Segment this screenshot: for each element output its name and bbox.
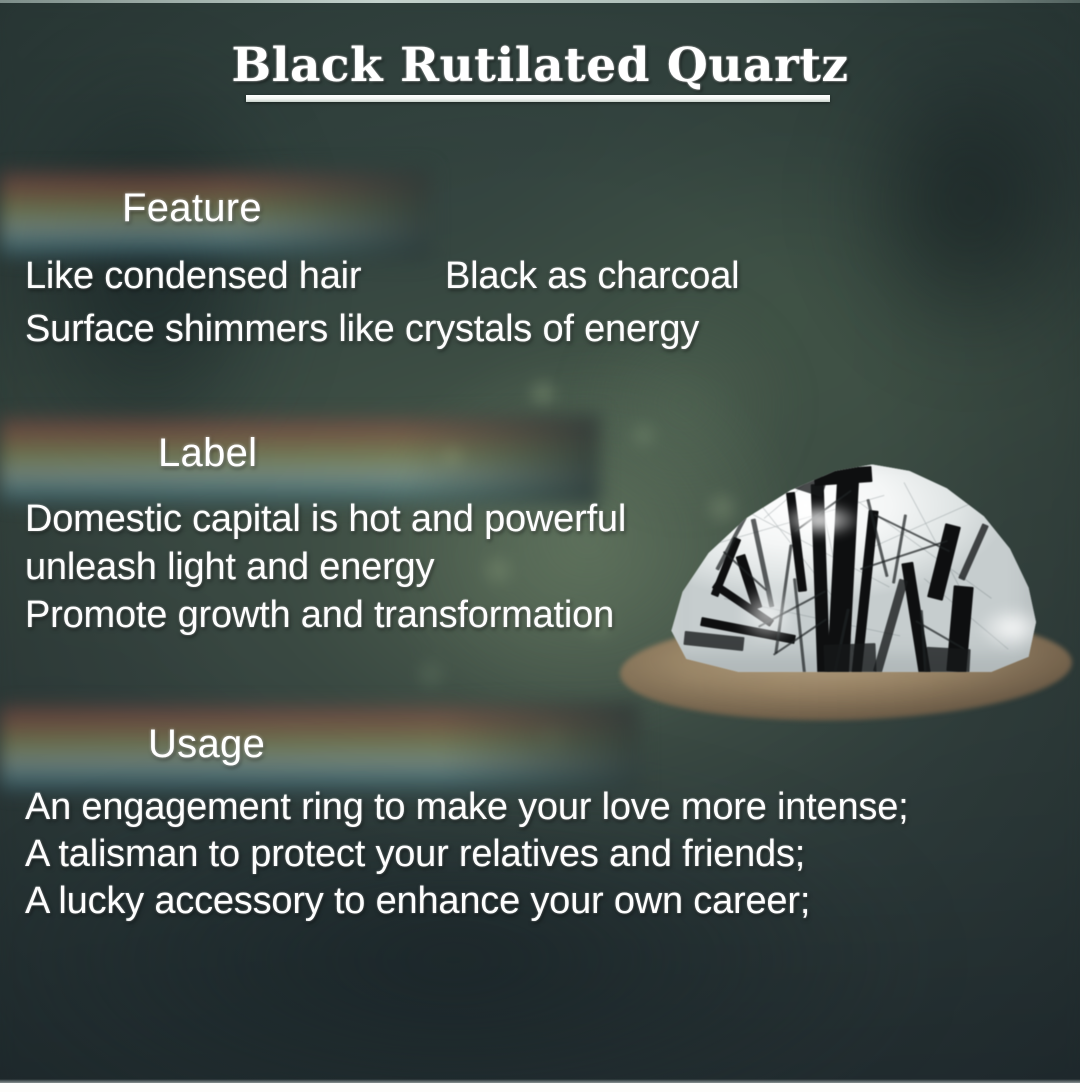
section-heading-feature: Feature [122, 186, 262, 231]
label-line-2: unleash light and energy [25, 546, 434, 589]
label-line-1: Domestic capital is hot and powerful [25, 498, 626, 541]
crystal-highlight [728, 576, 808, 654]
quartz-crystal-body [664, 458, 1036, 674]
title-underline [246, 95, 830, 102]
feature-line-2: Black as charcoal [445, 255, 739, 298]
product-info-graphic: Black Rutilated Quartz Feature Like cond… [0, 0, 1080, 1092]
black-rutilated-quartz-specimen [612, 440, 1080, 730]
section-heading-label: Label [158, 431, 257, 476]
crystal-highlight [760, 494, 880, 546]
top-edge-line [0, 0, 1080, 3]
rutile-needle [925, 647, 970, 674]
label-line-3: Promote growth and transformation [25, 594, 614, 637]
rutile-needle [823, 643, 876, 674]
section-heading-usage: Usage [148, 722, 265, 767]
feature-line-1: Like condensed hair [25, 255, 361, 298]
bottom-white-strip [0, 1083, 1080, 1092]
usage-line-3: A lucky accessory to enhance your own ca… [25, 880, 810, 923]
page-title-wrap: Black Rutilated Quartz [0, 42, 1080, 89]
usage-line-2: A talisman to protect your relatives and… [25, 833, 805, 876]
page-title: Black Rutilated Quartz [231, 42, 848, 89]
feature-line-3: Surface shimmers like crystals of energy [25, 308, 699, 351]
usage-line-1: An engagement ring to make your love mor… [25, 786, 909, 829]
